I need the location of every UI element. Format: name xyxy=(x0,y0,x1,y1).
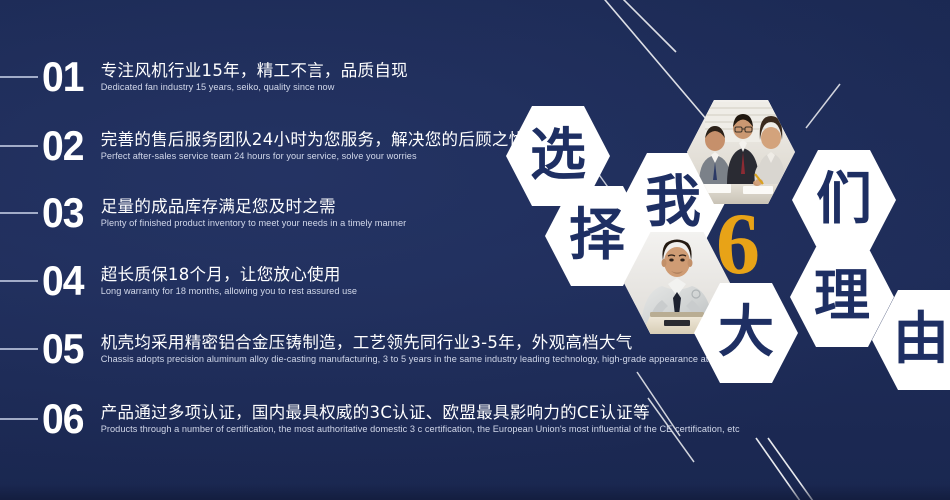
headline-number-six: 6 xyxy=(716,201,760,289)
hex-char-you: 由 xyxy=(893,312,949,368)
reason-headline-cn: 产品通过多项认证，国内最具权威的3C认证、欧盟最具影响力的CE认证等 xyxy=(101,403,740,422)
hex-char-men: 们 xyxy=(816,172,872,228)
reason-subline-en: Long warranty for 18 months, allowing yo… xyxy=(101,286,357,298)
reason-row: 05 机壳均采用精密铝合金压铸制造，工艺领先同行业3-5年，外观高档大气 Cha… xyxy=(0,320,750,378)
reason-row: 01 专注风机行业15年，精工不言，品质自现 Dedicated fan ind… xyxy=(0,48,408,106)
row-dash-icon xyxy=(0,145,38,147)
reason-subline-en: Perfect after-sales service team 24 hour… xyxy=(101,151,526,163)
reason-row: 02 完善的售后服务团队24小时为您服务，解决您的后顾之忧 Perfect af… xyxy=(0,117,526,175)
reason-headline-cn: 完善的售后服务团队24小时为您服务，解决您的后顾之忧 xyxy=(101,130,526,149)
reason-number: 05 xyxy=(42,328,93,370)
reason-row: 03 足量的成品库存满足您及时之需 Plenty of finished pro… xyxy=(0,184,406,242)
reason-headline-cn: 机壳均采用精密铝合金压铸制造，工艺领先同行业3-5年，外观高档大气 xyxy=(101,333,750,352)
row-dash-icon xyxy=(0,418,38,420)
row-dash-icon xyxy=(0,280,38,282)
reason-headline-cn: 专注风机行业15年，精工不言，品质自现 xyxy=(101,61,408,80)
row-dash-icon xyxy=(0,76,38,78)
reason-row: 06 产品通过多项认证，国内最具权威的3C认证、欧盟最具影响力的CE认证等 Pr… xyxy=(0,390,740,448)
hex-char-da: 大 xyxy=(718,305,774,361)
reason-number: 03 xyxy=(42,192,93,234)
reason-number: 06 xyxy=(42,398,93,440)
reason-subline-en: Dedicated fan industry 15 years, seiko, … xyxy=(101,82,408,94)
reason-row: 04 超长质保18个月，让您放心使用 Long warranty for 18 … xyxy=(0,252,357,310)
hex-tile-men: 们 xyxy=(792,150,896,250)
hex-char-xuan: 选 xyxy=(530,128,586,184)
reason-text: 足量的成品库存满足您及时之需 Plenty of finished produc… xyxy=(97,197,407,230)
hex-char-ze: 择 xyxy=(569,208,625,264)
hex-number-six: 6 xyxy=(698,200,778,290)
reason-text: 超长质保18个月，让您放心使用 Long warranty for 18 mon… xyxy=(97,265,357,298)
row-dash-icon xyxy=(0,348,38,350)
hex-char-wo: 我 xyxy=(645,175,701,231)
row-dash-icon xyxy=(0,212,38,214)
reason-subline-en: Products through a number of certificati… xyxy=(101,424,740,436)
reason-number: 01 xyxy=(42,56,93,98)
reason-number: 04 xyxy=(42,260,93,302)
hex-char-li: 理 xyxy=(814,269,870,325)
reason-text: 完善的售后服务团队24小时为您服务，解决您的后顾之忧 Perfect after… xyxy=(97,130,526,163)
why-choose-us-banner: 01 专注风机行业15年，精工不言，品质自现 Dedicated fan ind… xyxy=(0,0,950,500)
reason-text: 专注风机行业15年，精工不言，品质自现 Dedicated fan indust… xyxy=(97,61,408,94)
reason-subline-en: Chassis adopts precision aluminum alloy … xyxy=(101,354,750,366)
reason-subline-en: Plenty of finished product inventory to … xyxy=(101,218,407,230)
reason-text: 产品通过多项认证，国内最具权威的3C认证、欧盟最具影响力的CE认证等 Produ… xyxy=(97,403,740,436)
reason-number: 02 xyxy=(42,125,93,167)
reason-text: 机壳均采用精密铝合金压铸制造，工艺领先同行业3-5年，外观高档大气 Chassi… xyxy=(97,333,750,366)
reason-headline-cn: 超长质保18个月，让您放心使用 xyxy=(101,265,357,284)
reason-headline-cn: 足量的成品库存满足您及时之需 xyxy=(101,197,407,216)
